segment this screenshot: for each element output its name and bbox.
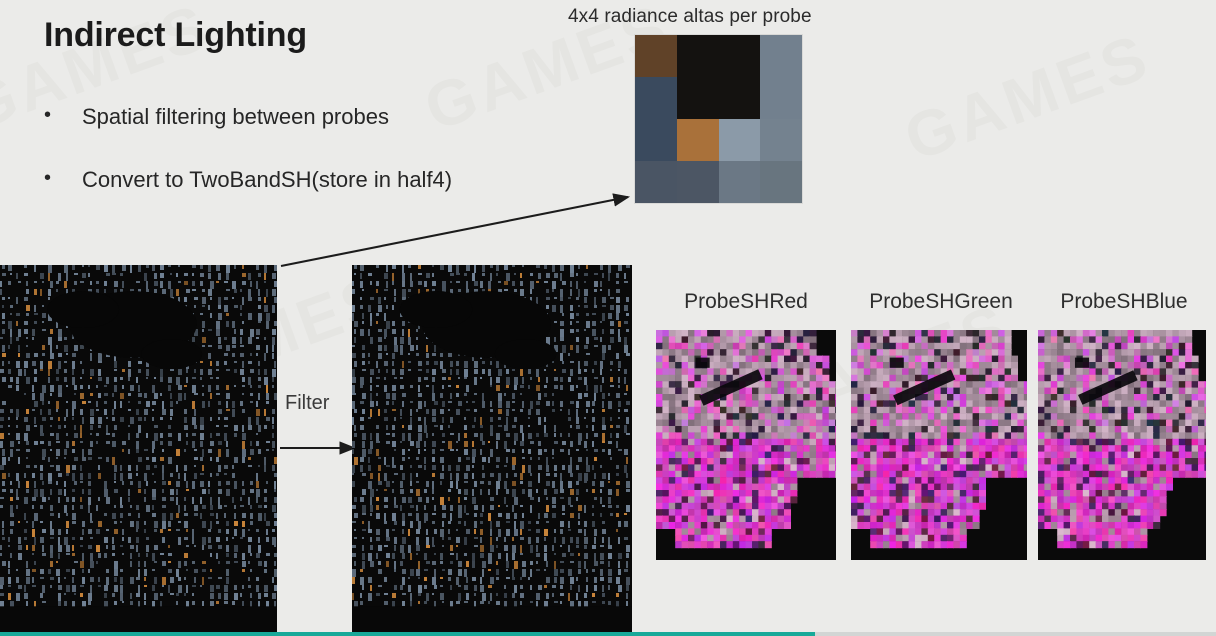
atlas-cell-14: [719, 161, 761, 203]
watermark: GAMES: [895, 19, 1160, 176]
bullet-item-1: • Convert to TwoBandSH(store in half4): [44, 167, 452, 192]
atlas-cell-6: [719, 77, 761, 119]
bullet-marker-icon: •: [44, 104, 60, 126]
bullet-item-0: • Spatial filtering between probes: [44, 104, 389, 129]
video-progress-fill: [0, 632, 815, 636]
atlas-cell-1: [677, 35, 719, 77]
slide-canvas: GAMES GAMES GAMES GAMES GAMES GAMES Indi…: [0, 0, 1216, 636]
atlas-cell-15: [760, 161, 802, 203]
atlas-cell-8: [635, 119, 677, 161]
atlas-cell-11: [760, 119, 802, 161]
probe-sh-blue-image: [1038, 330, 1206, 560]
atlas-cell-0: [635, 35, 677, 77]
atlas-caption: 4x4 radiance altas per probe: [568, 6, 812, 28]
probe-label-blue: ProbeSHBlue: [1038, 290, 1210, 314]
atlas-cell-2: [719, 35, 761, 77]
radiance-atlas-4x4: [635, 35, 802, 203]
atlas-cell-10: [719, 119, 761, 161]
bullet-text: Convert to TwoBandSH(store in half4): [82, 167, 452, 192]
probe-sh-green-image: [851, 330, 1027, 560]
probe-label-green: ProbeSHGreen: [851, 290, 1031, 314]
probe-sh-red-image: [656, 330, 836, 560]
atlas-cell-13: [677, 161, 719, 203]
slide-title: Indirect Lighting: [44, 16, 307, 55]
radiance-atlas-filtered-image: [352, 265, 632, 636]
atlas-cell-5: [677, 77, 719, 119]
atlas-cell-7: [760, 77, 802, 119]
video-progress-track[interactable]: [0, 632, 1216, 636]
atlas-cell-12: [635, 161, 677, 203]
filter-label: Filter: [285, 392, 329, 415]
atlas-cell-3: [760, 35, 802, 77]
atlas-cell-9: [677, 119, 719, 161]
radiance-atlas-unfiltered-image: [0, 265, 277, 636]
bullet-marker-icon: •: [44, 167, 60, 189]
atlas-cell-4: [635, 77, 677, 119]
probe-label-red: ProbeSHRed: [656, 290, 836, 314]
bullet-text: Spatial filtering between probes: [82, 104, 389, 129]
